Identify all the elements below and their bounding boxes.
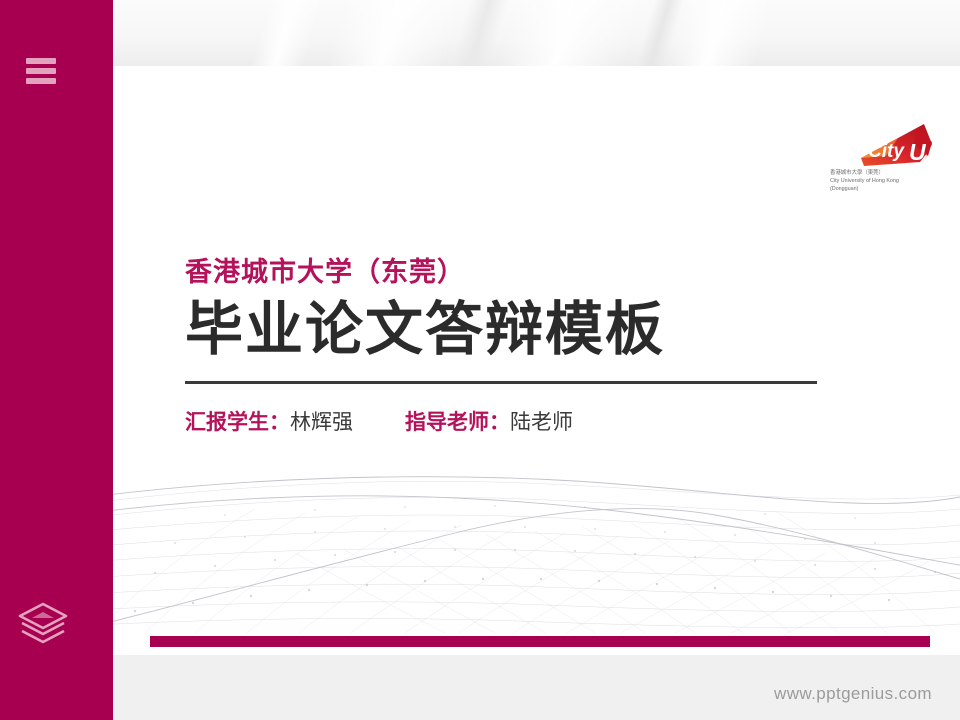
cityu-logo: City U 香港城市大學（東莞） City University of Hon… bbox=[828, 122, 938, 194]
cityu-logo-mark: City U 香港城市大學（東莞） City University of Hon… bbox=[828, 122, 938, 194]
svg-text:City: City bbox=[868, 141, 905, 162]
student-name: 林辉强 bbox=[290, 406, 353, 436]
menu-bar bbox=[26, 78, 56, 84]
slide-accent-bar bbox=[150, 636, 930, 647]
layers-stack-glyph bbox=[16, 600, 70, 650]
title-block: 香港城市大学（东莞） 毕业论文答辩模板 汇报学生： 林辉强 指导老师： 陆老师 bbox=[185, 256, 885, 436]
layers-stack-icon[interactable] bbox=[16, 600, 70, 650]
title-divider bbox=[185, 381, 817, 384]
menu-bar bbox=[26, 58, 56, 64]
logo-english-name-line2: (Dongguan) bbox=[830, 186, 859, 192]
left-sidebar-rail bbox=[0, 0, 113, 720]
presenter-meta-row: 汇报学生： 林辉强 指导老师： 陆老师 bbox=[185, 406, 885, 436]
advisor-label: 指导老师： bbox=[405, 406, 510, 436]
advisor-name: 陆老师 bbox=[510, 406, 573, 436]
presentation-slide-viewer: City U 香港城市大學（東莞） City University of Hon… bbox=[0, 0, 960, 720]
logo-english-name: City University of Hong Kong bbox=[830, 178, 899, 184]
hamburger-menu-icon[interactable] bbox=[26, 58, 56, 84]
menu-bar bbox=[26, 68, 56, 74]
university-subtitle: 香港城市大学（东莞） bbox=[185, 256, 885, 288]
mesh-wave-decoration bbox=[75, 453, 960, 633]
slide-canvas: City U 香港城市大學（東莞） City University of Hon… bbox=[75, 66, 960, 655]
student-label: 汇报学生： bbox=[185, 406, 290, 436]
background-streak bbox=[304, 0, 476, 66]
page-title: 毕业论文答辩模板 bbox=[185, 296, 885, 364]
background-streak bbox=[229, 0, 335, 66]
svg-text:U: U bbox=[909, 139, 927, 165]
logo-chinese-name: 香港城市大學（東莞） bbox=[830, 168, 884, 176]
background-top-gradient bbox=[0, 0, 960, 66]
footer-url: www.pptgenius.com bbox=[774, 684, 932, 704]
